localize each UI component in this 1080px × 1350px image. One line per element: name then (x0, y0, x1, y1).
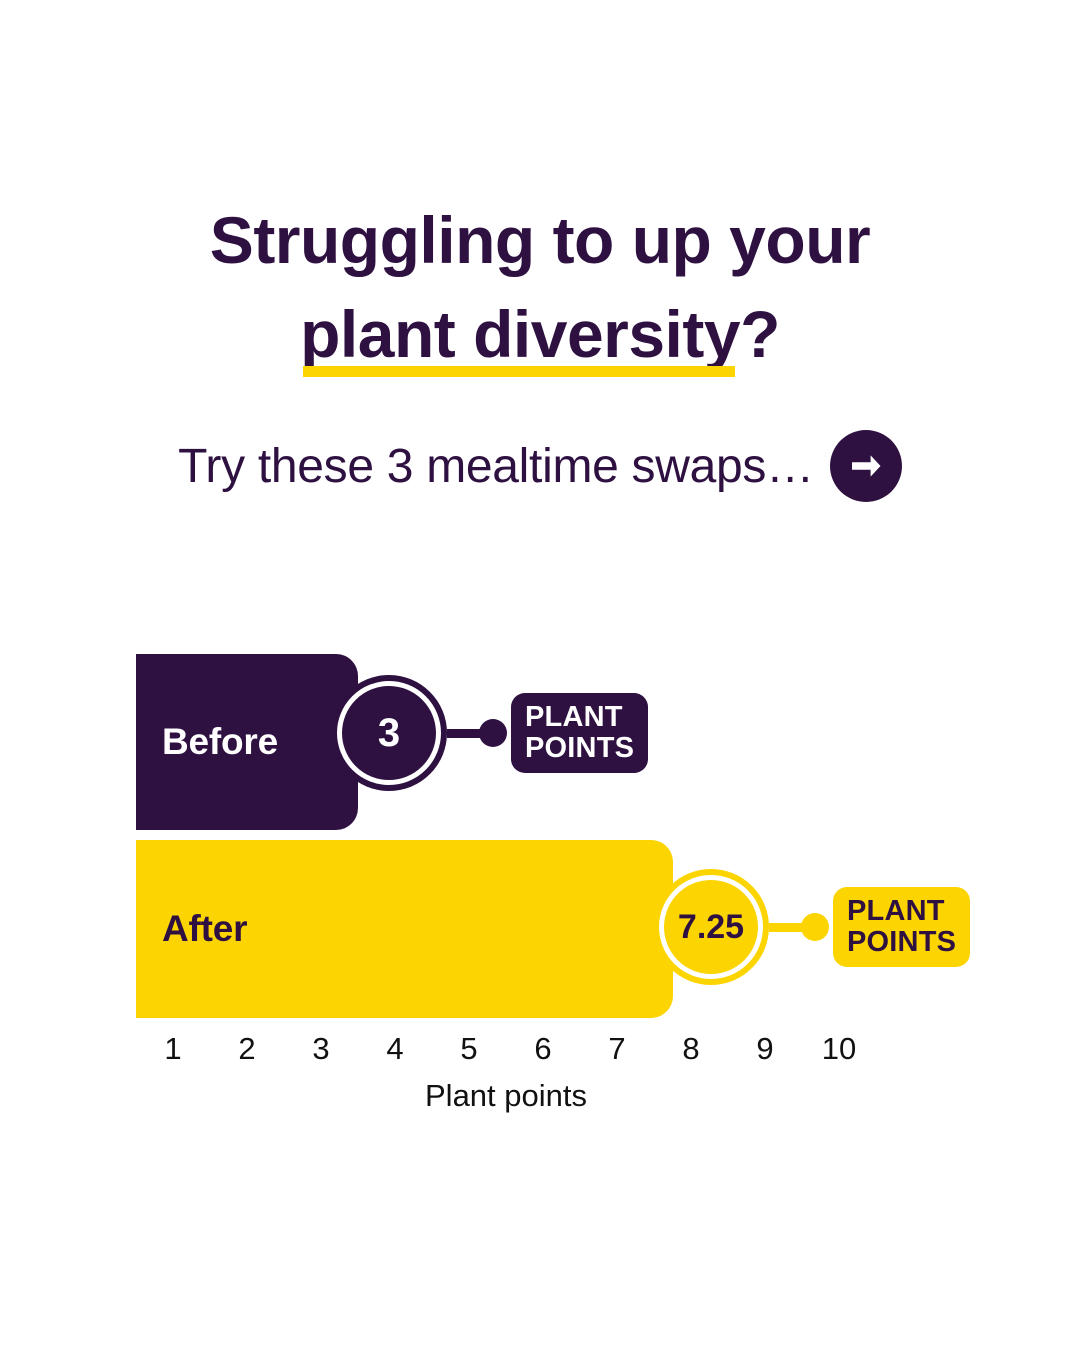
connector-line-after (769, 923, 803, 932)
unit-pill-before-line-1: PLANT (525, 702, 634, 733)
connector-dot-before (479, 719, 507, 747)
bar-before-label: Before (136, 721, 278, 763)
callout-before: 3 PLANT POINTS (337, 681, 648, 785)
x-axis-tick-10: 10 (809, 1031, 869, 1067)
bar-before: Before (136, 654, 358, 830)
x-axis-tick-5: 5 (439, 1031, 499, 1067)
unit-pill-before: PLANT POINTS (511, 693, 648, 773)
connector-line-before (447, 729, 481, 738)
unit-pill-after-line-2: POINTS (847, 927, 956, 958)
value-badge-after: 7.25 (659, 875, 763, 979)
x-axis-tick-1: 1 (143, 1031, 203, 1067)
x-axis-ticks: 12345678910 (136, 1031, 914, 1071)
unit-pill-after-line-1: PLANT (847, 896, 956, 927)
value-badge-before: 3 (337, 681, 441, 785)
x-axis-tick-4: 4 (365, 1031, 425, 1067)
x-axis-tick-2: 2 (217, 1031, 277, 1067)
x-axis-tick-3: 3 (291, 1031, 351, 1067)
bar-after: After (136, 840, 673, 1018)
connector-before (447, 719, 507, 747)
bar-after-label: After (136, 908, 247, 950)
x-axis-tick-7: 7 (587, 1031, 647, 1067)
x-axis-tick-9: 9 (735, 1031, 795, 1067)
x-axis-tick-8: 8 (661, 1031, 721, 1067)
x-axis-tick-6: 6 (513, 1031, 573, 1067)
callout-after: 7.25 PLANT POINTS (659, 875, 970, 979)
plant-points-bar-chart: Before 3 PLANT POINTS After 7.25 PLANT P… (0, 0, 1080, 1350)
unit-pill-before-line-2: POINTS (525, 733, 634, 764)
x-axis-title: Plant points (136, 1078, 876, 1114)
connector-after (769, 913, 829, 941)
connector-dot-after (801, 913, 829, 941)
unit-pill-after: PLANT POINTS (833, 887, 970, 967)
